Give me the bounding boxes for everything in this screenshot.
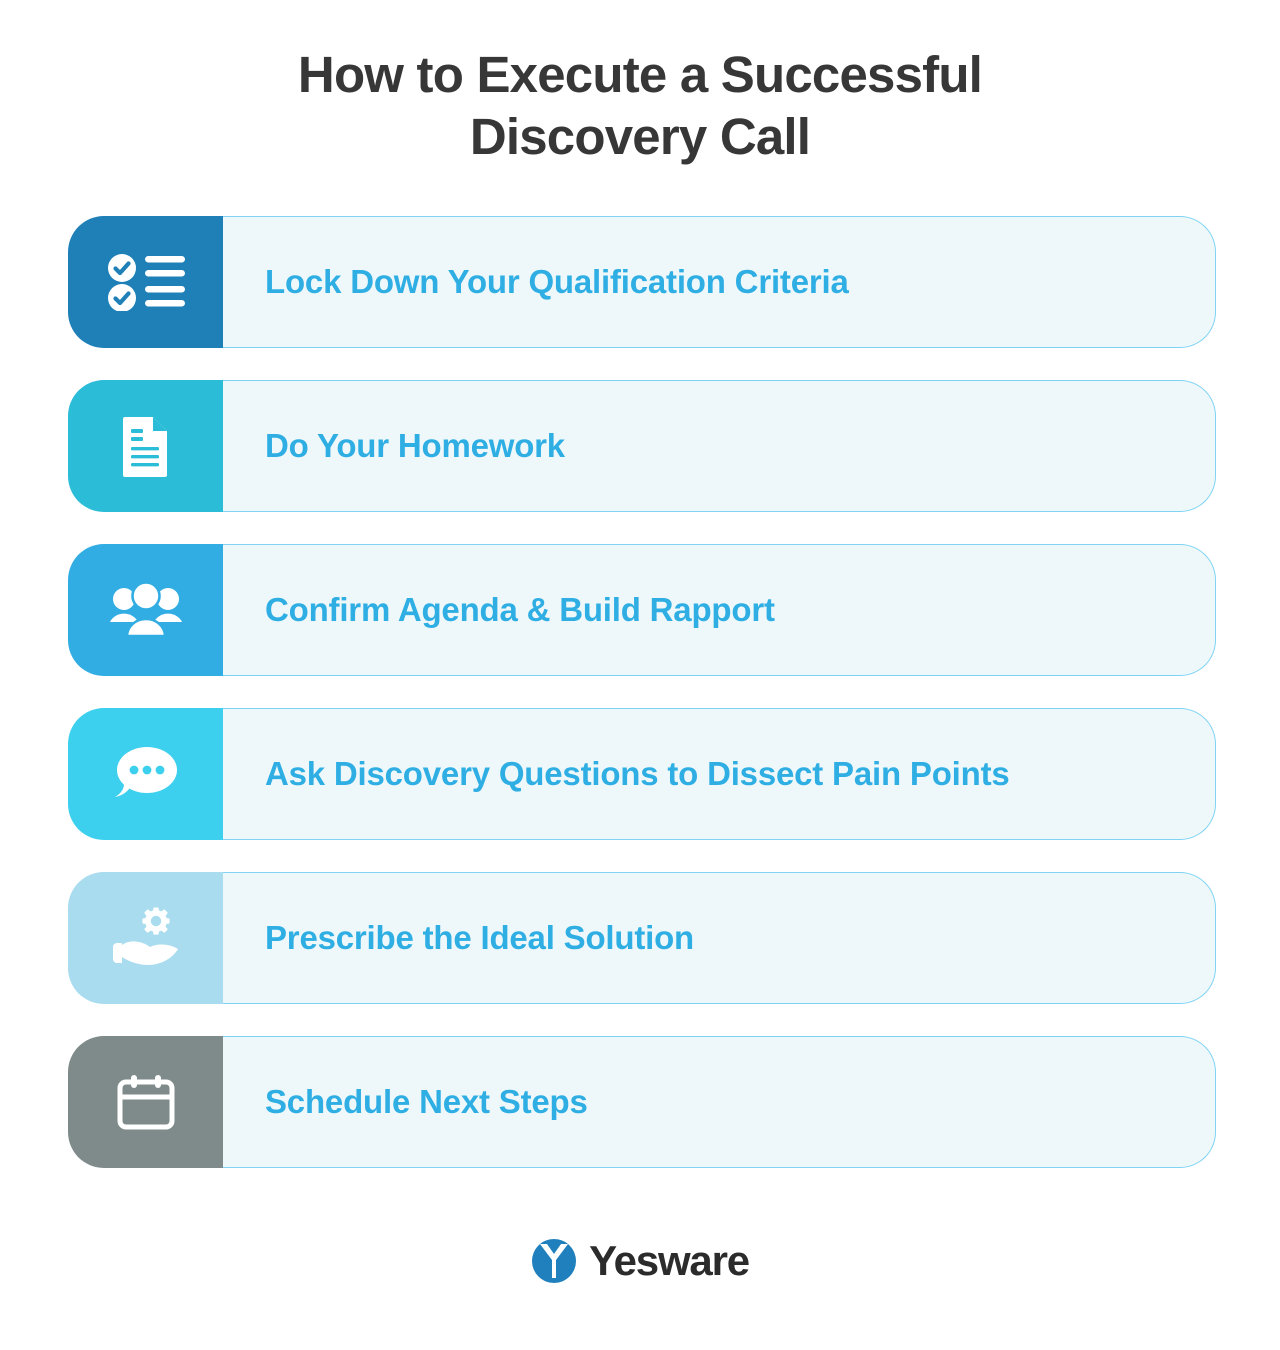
step-icon-block <box>68 1036 223 1168</box>
footer-logo: Yesware <box>0 1238 1280 1284</box>
page-title: How to Execute a Successful Discovery Ca… <box>0 44 1280 168</box>
step-body: Confirm Agenda & Build Rapport <box>223 544 1216 676</box>
steps-list: Lock Down Your Qualification Criteria Do… <box>68 216 1216 1168</box>
page-title-line-1: How to Execute a Successful <box>0 44 1280 106</box>
step-row[interactable]: Lock Down Your Qualification Criteria <box>68 216 1216 348</box>
step-icon-block <box>68 708 223 840</box>
infographic-page: How to Execute a Successful Discovery Ca… <box>0 0 1280 1350</box>
step-body: Prescribe the Ideal Solution <box>223 872 1216 1004</box>
step-row[interactable]: Schedule Next Steps <box>68 1036 1216 1168</box>
step-label: Confirm Agenda & Build Rapport <box>265 591 775 629</box>
step-icon-block <box>68 872 223 1004</box>
step-row[interactable]: Ask Discovery Questions to Dissect Pain … <box>68 708 1216 840</box>
step-icon-block <box>68 216 223 348</box>
page-title-line-2: Discovery Call <box>0 106 1280 168</box>
step-body: Ask Discovery Questions to Dissect Pain … <box>223 708 1216 840</box>
step-label: Prescribe the Ideal Solution <box>265 919 694 957</box>
step-body: Schedule Next Steps <box>223 1036 1216 1168</box>
step-label: Lock Down Your Qualification Criteria <box>265 263 849 301</box>
checklist-icon <box>107 253 185 311</box>
step-body: Do Your Homework <box>223 380 1216 512</box>
step-body: Lock Down Your Qualification Criteria <box>223 216 1216 348</box>
brand-name: Yesware <box>589 1240 749 1282</box>
speech-bubble-icon <box>111 744 181 804</box>
step-label: Do Your Homework <box>265 427 565 465</box>
step-icon-block <box>68 380 223 512</box>
step-icon-block <box>68 544 223 676</box>
step-row[interactable]: Confirm Agenda & Build Rapport <box>68 544 1216 676</box>
step-label: Schedule Next Steps <box>265 1083 588 1121</box>
document-icon <box>121 415 171 477</box>
people-group-icon <box>109 582 183 638</box>
step-row[interactable]: Prescribe the Ideal Solution <box>68 872 1216 1004</box>
step-row[interactable]: Do Your Homework <box>68 380 1216 512</box>
yesware-logo-mark <box>531 1238 577 1284</box>
step-label: Ask Discovery Questions to Dissect Pain … <box>265 755 1010 793</box>
calendar-icon <box>117 1074 175 1130</box>
hand-gear-icon <box>110 907 182 969</box>
